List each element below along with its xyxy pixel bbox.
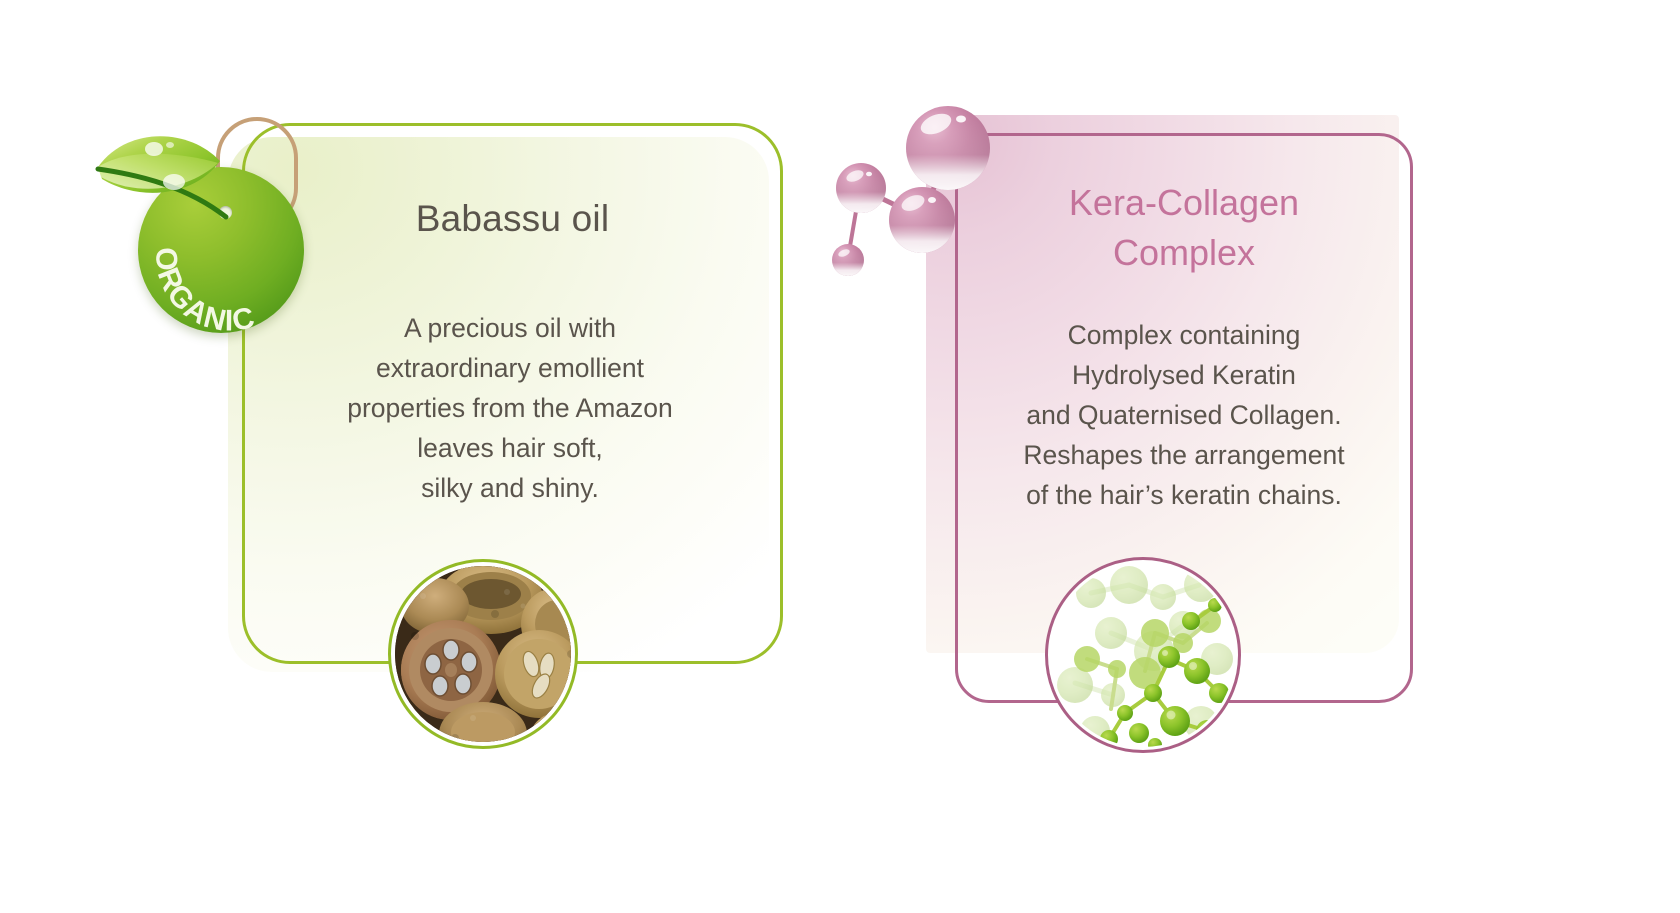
molecule-spheres-icon xyxy=(830,90,1020,290)
ingredient-card-kera-collagen-complex: Kera-Collagen Complex Complex containing… xyxy=(900,115,1420,715)
card-title: Babassu oil xyxy=(242,198,783,240)
ingredient-card-babassu-oil: Babassu oil A precious oil with extraord… xyxy=(228,123,786,711)
card-description: A precious oil with extraordinary emolli… xyxy=(232,308,788,508)
babassu-nuts-photo xyxy=(388,559,578,749)
card-description: Complex containing Hydrolysed Keratin an… xyxy=(910,315,1458,515)
page-canvas: Babassu oil A precious oil with extraord… xyxy=(0,0,1680,913)
svg-text:ORGANIC: ORGANIC xyxy=(149,247,259,333)
organic-badge: ORGANIC xyxy=(102,119,312,334)
card-title: Kera-Collagen Complex xyxy=(955,178,1413,278)
molecule-structure-photo xyxy=(1045,557,1241,753)
leaf-icon xyxy=(92,125,248,233)
